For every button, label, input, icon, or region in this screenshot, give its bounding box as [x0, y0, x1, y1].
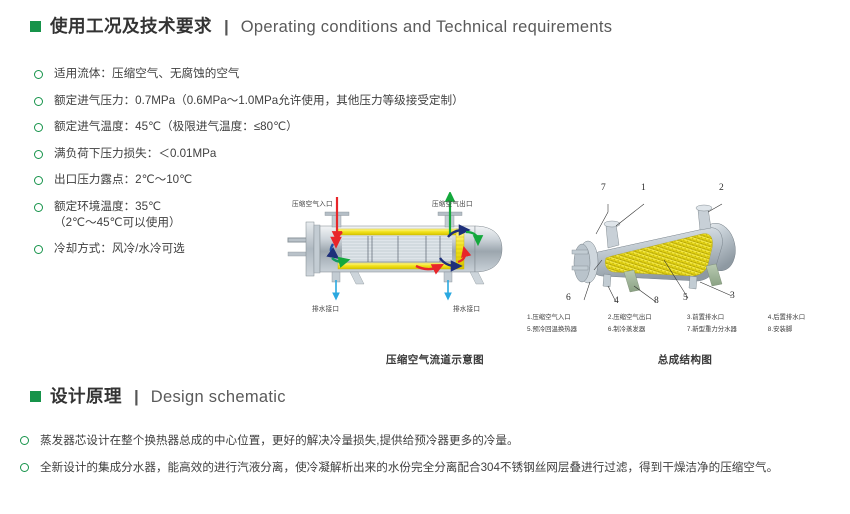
callout-number-2: 2 — [719, 183, 724, 193]
legend-item-4: 4.后置排水口 — [768, 312, 827, 324]
list-item-label: 满负荷下压力损失：＜0.01MPa — [54, 146, 216, 162]
legend-item-8: 8.安装脚 — [768, 324, 827, 336]
heading-separator: | — [224, 18, 229, 35]
callout-number-3: 3 — [730, 291, 735, 301]
flow-label-inlet: 压缩空气入口 — [292, 198, 333, 208]
list-item-label: 额定环境温度：35℃ （2℃～45℃可以使用） — [54, 199, 181, 231]
legend-row: 5.预冷回温换热器 6.制冷蒸发器 7.新型重力分水器 8.安装脚 — [527, 324, 827, 336]
callout-number-7: 7 — [601, 183, 606, 193]
list-item-label: 蒸发器芯设计在整个换热器总成的中心位置，更好的解决冷量损失,提供给预冷器更多的冷… — [40, 432, 519, 450]
list-item-label: 冷却方式：风冷/水冷可选 — [54, 241, 185, 257]
callout-number-1: 1 — [641, 183, 646, 193]
legend-item-2: 2.压缩空气出口 — [608, 312, 687, 324]
figure-compressed-air-flow-diagram — [280, 192, 525, 312]
flow-label-drain-right: 排水接口 — [453, 303, 480, 313]
legend-item-5: 5.预冷回温换热器 — [527, 324, 608, 336]
list-item: 满负荷下压力损失：＜0.01MPa — [34, 146, 574, 162]
ring-bullet-icon — [34, 123, 43, 132]
callout-number-8: 8 — [654, 296, 659, 306]
ring-bullet-icon — [34, 176, 43, 185]
heading-chinese-title: 使用工况及技术要求 — [50, 18, 212, 36]
ring-bullet-icon — [34, 150, 43, 159]
figure-caption-flow: 压缩空气流道示意图 — [330, 352, 540, 367]
ring-bullet-icon — [34, 97, 43, 106]
ring-bullet-icon — [34, 70, 43, 79]
list-item-label: 适用流体：压缩空气、无腐蚀的空气 — [54, 66, 240, 82]
list-item-label: 出口压力露点：2℃～10℃ — [54, 172, 192, 188]
assembly-legend: 1.压缩空气入口 2.压缩空气出口 3.前置排水口 4.后置排水口 5.预冷回温… — [527, 312, 827, 335]
callout-number-4: 4 — [614, 296, 619, 306]
list-item-label: 全新设计的集成分水器，能高效的进行汽液分离，使冷凝解析出来的水份完全分离配合30… — [40, 459, 778, 477]
list-item-label: 额定进气温度：45℃（极限进气温度：≤80℃） — [54, 119, 298, 135]
list-item: 额定进气压力：0.7MPa（0.6MPa～1.0MPa允许使用，其他压力等级接受… — [34, 93, 574, 109]
heading-english-title: Design schematic — [151, 389, 286, 406]
heading-separator: | — [134, 388, 139, 405]
list-item: 适用流体：压缩空气、无腐蚀的空气 — [34, 66, 574, 82]
design-principle-list: 蒸发器芯设计在整个换热器总成的中心位置，更好的解决冷量损失,提供给预冷器更多的冷… — [20, 432, 820, 486]
ring-bullet-icon — [20, 463, 29, 472]
legend-item-3: 3.前置排水口 — [687, 312, 768, 324]
flow-label-drain-left: 排水接口 — [312, 303, 339, 313]
legend-item-1: 1.压缩空气入口 — [527, 312, 608, 324]
legend-row: 1.压缩空气入口 2.压缩空气出口 3.前置排水口 4.后置排水口 — [527, 312, 827, 324]
ring-bullet-icon — [20, 436, 29, 445]
heading-chinese-title: 设计原理 — [50, 388, 122, 406]
section-heading-operating: 使用工况及技术要求 | Operating conditions and Tec… — [30, 18, 612, 36]
list-item: 额定进气温度：45℃（极限进气温度：≤80℃） — [34, 119, 574, 135]
ring-bullet-icon — [34, 245, 43, 254]
list-item: 蒸发器芯设计在整个换热器总成的中心位置，更好的解决冷量损失,提供给预冷器更多的冷… — [20, 432, 820, 450]
figure-caption-assembly: 总成结构图 — [600, 352, 770, 367]
legend-item-6: 6.制冷蒸发器 — [608, 324, 687, 336]
callout-number-6: 6 — [566, 293, 571, 303]
callout-number-5: 5 — [683, 293, 688, 303]
flow-label-outlet: 压缩空气出口 — [432, 198, 473, 208]
legend-item-7: 7.新型重力分水器 — [687, 324, 768, 336]
section-heading-design: 设计原理 | Design schematic — [30, 388, 286, 406]
list-item: 全新设计的集成分水器，能高效的进行汽液分离，使冷凝解析出来的水份完全分离配合30… — [20, 459, 820, 477]
heading-bullet-square-icon — [30, 391, 41, 402]
flow-diagram-svg — [280, 192, 525, 312]
list-item-label: 额定进气压力：0.7MPa（0.6MPa～1.0MPa允许使用，其他压力等级接受… — [54, 93, 464, 109]
ring-bullet-icon — [34, 203, 43, 212]
heading-bullet-square-icon — [30, 21, 41, 32]
heading-english-title: Operating conditions and Technical requi… — [241, 19, 613, 36]
list-item: 出口压力露点：2℃～10℃ — [34, 172, 574, 188]
